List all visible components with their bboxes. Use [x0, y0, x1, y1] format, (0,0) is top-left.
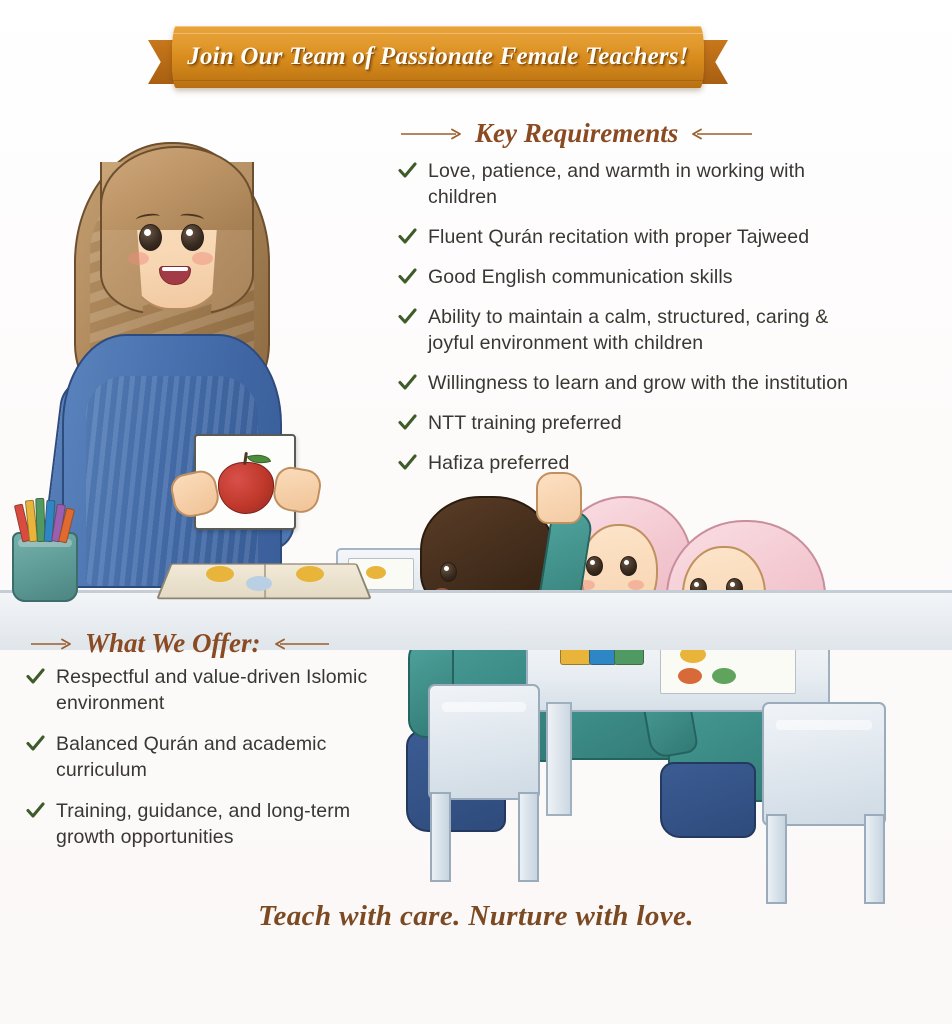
list-item: Balanced Qurán and academic curriculum — [26, 731, 376, 783]
headline-banner: Join Our Team of Passionate Female Teach… — [148, 26, 728, 94]
check-icon — [398, 373, 417, 392]
list-item-label: Ability to maintain a calm, structured, … — [428, 304, 868, 356]
list-item: Respectful and value-driven Islomic envi… — [26, 664, 376, 716]
pencil-cup — [12, 532, 78, 602]
check-icon — [398, 307, 417, 326]
list-item-label: Love, patience, and warmth in working wi… — [428, 158, 868, 210]
list-item-label: Willingness to learn and grow with the i… — [428, 370, 848, 396]
list-item: Good English communication skills — [398, 264, 868, 290]
list-item: Love, patience, and warmth in working wi… — [398, 158, 868, 210]
book-dot-right — [296, 566, 324, 582]
worksheet-dot-4 — [678, 668, 702, 684]
apple-leaf-icon — [247, 450, 271, 468]
worksheet-dot-1 — [366, 566, 386, 579]
check-icon — [26, 667, 45, 686]
tagline: Teach with care. Nurture with love. — [0, 900, 952, 933]
list-item-label: Training, guidance, and long-term growth… — [56, 798, 376, 850]
list-item: Willingness to learn and grow with the i… — [398, 370, 868, 396]
list-item-label: Fluent Qurán recitation with proper Tajw… — [428, 224, 809, 250]
arrow-right-icon — [30, 638, 76, 650]
teacher-cheek-left — [128, 252, 149, 265]
requirements-heading: Key Requirements — [400, 118, 753, 149]
list-item-label: Respectful and value-driven Islomic envi… — [56, 664, 376, 716]
list-item: Training, guidance, and long-term growth… — [26, 798, 376, 850]
list-item-label: Hafiza preferred — [428, 450, 569, 476]
book-dot-left — [206, 566, 234, 582]
poster-canvas: Join Our Team of Passionate Female Teach… — [0, 0, 952, 1024]
girl2-pants — [660, 762, 756, 838]
check-icon — [26, 734, 45, 753]
girl1-eye-left — [586, 556, 603, 576]
check-icon — [398, 161, 417, 180]
chair-back-girl — [762, 702, 886, 826]
check-icon — [398, 453, 417, 472]
chair-leg-boy-right — [518, 792, 539, 882]
check-icon — [398, 267, 417, 286]
teacher-cheek-right — [192, 252, 213, 265]
boy-eye — [440, 562, 457, 582]
list-item-label: Balanced Qurán and academic curriculum — [56, 731, 376, 783]
list-item-label: Good English communication skills — [428, 264, 733, 290]
list-item: Ability to maintain a calm, structured, … — [398, 304, 868, 356]
girl1-eye-right — [620, 556, 637, 576]
arrow-left-icon — [687, 128, 753, 140]
students-illustration — [330, 462, 952, 862]
chair-leg-girl-right — [864, 814, 885, 904]
check-icon — [398, 413, 417, 432]
offers-list: Respectful and value-driven Islomic envi… — [26, 664, 376, 865]
apple-icon — [218, 462, 274, 514]
banner-headline-text: Join Our Team of Passionate Female Teach… — [148, 26, 728, 88]
arrow-left-icon — [270, 638, 330, 650]
requirements-list: Love, patience, and warmth in working wi… — [398, 158, 868, 490]
offers-heading-text: What We Offer: — [85, 628, 261, 659]
list-item-label: NTT training preferred — [428, 410, 622, 436]
requirements-heading-text: Key Requirements — [475, 118, 678, 149]
list-item: NTT training preferred — [398, 410, 868, 436]
check-icon — [398, 227, 417, 246]
list-item: Fluent Qurán recitation with proper Tajw… — [398, 224, 868, 250]
chair-leg-girl-left — [766, 814, 787, 904]
check-icon — [26, 801, 45, 820]
girl1-cheek-right — [628, 580, 644, 590]
list-item: Hafiza preferred — [398, 450, 868, 476]
arrow-right-icon — [400, 128, 466, 140]
teacher-eye-left — [139, 224, 162, 251]
book-dot-center — [246, 576, 272, 591]
chair-leg-boy-left — [430, 792, 451, 882]
desk-edge-line — [0, 590, 952, 593]
worksheet-dot-5 — [712, 668, 736, 684]
offers-heading: What We Offer: — [30, 628, 330, 659]
front-table-leg-left — [546, 702, 572, 816]
teacher-eye-right — [181, 224, 204, 251]
chair-back-boy — [428, 684, 540, 800]
